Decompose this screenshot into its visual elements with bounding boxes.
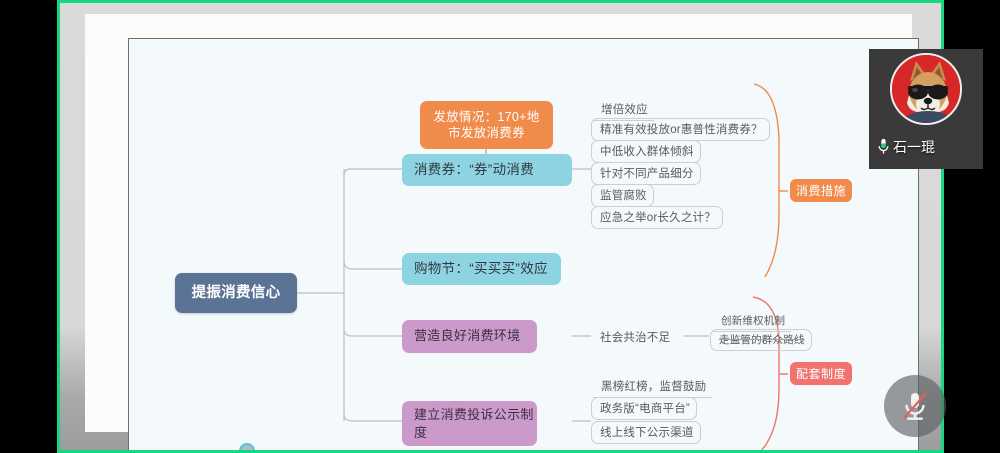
branch-4-leaf-1[interactable]: 政务版“电商平台” <box>591 397 697 420</box>
group-tag-1-label: 配套制度 <box>796 365 846 382</box>
microphone-muted-icon <box>900 389 930 423</box>
participant-name-row: 石一琨 <box>877 137 935 157</box>
mindmap-frame: 提振消费信心 发放情况：170+地市发放消费券 消费券：“券”动消费 增倍效应 … <box>128 38 919 453</box>
avatar <box>890 53 962 125</box>
branch-3-leaf-0[interactable]: 社会共治不足 <box>592 327 676 348</box>
cyan-bubble-node[interactable] <box>239 443 255 453</box>
mute-button[interactable] <box>884 375 946 437</box>
mindmap-canvas[interactable]: 提振消费信心 发放情况：170+地市发放消费券 消费券：“券”动消费 增倍效应 … <box>129 39 918 453</box>
group-tag-0[interactable]: 消费措施 <box>790 179 852 202</box>
branch-3-subleaf-1[interactable]: 走监管的群众路线 <box>710 329 812 351</box>
branch-3-label: 营造良好消费环境 <box>414 328 520 345</box>
shared-screen-area: 提振消费信心 发放情况：170+地市发放消费券 消费券：“券”动消费 增倍效应 … <box>57 0 944 453</box>
branch-1-leaf-4[interactable]: 监管腐败 <box>591 184 654 207</box>
group-tag-1[interactable]: 配套制度 <box>790 362 852 385</box>
branch-2-label: 购物节：“买买买”效应 <box>414 260 548 277</box>
branch-1-callout-label: 发放情况：170+地市发放消费券 <box>428 109 545 141</box>
branch-1-leaf-1[interactable]: 精准有效投放or惠普性消费券？ <box>591 118 770 141</box>
participant-name: 石一琨 <box>893 137 935 157</box>
branch-3-node[interactable]: 营造良好消费环境 <box>402 320 537 353</box>
branch-1-label: 消费券：“券”动消费 <box>414 161 534 178</box>
branch-4-leaf-0[interactable]: 黑榜红榜，监督鼓励 <box>593 376 712 398</box>
branch-1-leaf-2[interactable]: 中低收入群体倾斜 <box>591 140 701 163</box>
mindmap-center-node[interactable]: 提振消费信心 <box>175 273 297 313</box>
branch-4-leaf-2[interactable]: 线上线下公示渠道 <box>591 421 701 444</box>
branch-1-leaf-3[interactable]: 针对不同产品细分 <box>591 162 701 185</box>
branch-1-node[interactable]: 消费券：“券”动消费 <box>402 154 572 186</box>
group-tag-0-label: 消费措施 <box>796 182 846 199</box>
center-node-label: 提振消费信心 <box>192 284 281 303</box>
branch-4-label: 建立消费投诉公示制度 <box>414 406 537 441</box>
branch-1-callout[interactable]: 发放情况：170+地市发放消费券 <box>420 101 553 149</box>
dog-avatar-icon <box>892 55 962 125</box>
microphone-icon <box>877 138 890 156</box>
branch-4-node[interactable]: 建立消费投诉公示制度 <box>402 401 537 446</box>
branch-1-leaf-5[interactable]: 应急之举or长久之计？ <box>591 206 723 229</box>
document-page: 提振消费信心 发放情况：170+地市发放消费券 消费券：“券”动消费 增倍效应 … <box>85 14 912 432</box>
screen-root: 提振消费信心 发放情况：170+地市发放消费券 消费券：“券”动消费 增倍效应 … <box>0 0 1000 453</box>
branch-2-node[interactable]: 购物节：“买买买”效应 <box>402 253 561 285</box>
participant-video-tile[interactable]: 石一琨 <box>869 49 983 169</box>
